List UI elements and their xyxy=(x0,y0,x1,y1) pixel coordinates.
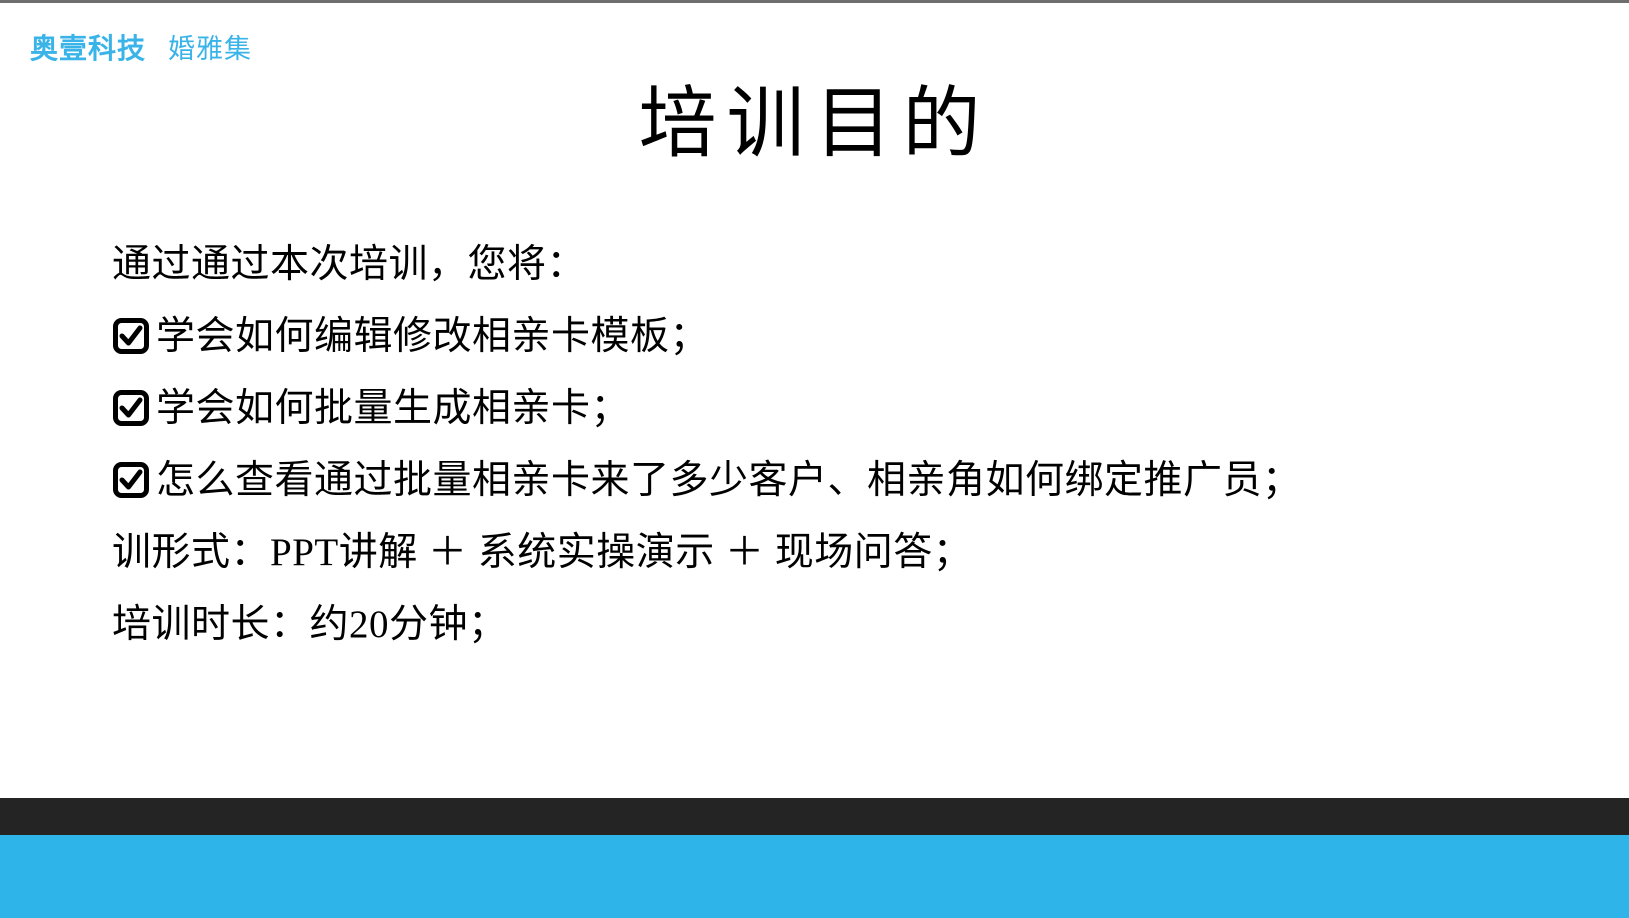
body-line-checklist: 学会如何批量生成相亲卡； xyxy=(112,387,1569,459)
page-title: 培训目的 xyxy=(0,81,1629,167)
slide-root: 奥壹科技 婚雅集 培训目的 通过通过本次培训，您将： 学会如何编辑修改相亲卡模板… xyxy=(0,0,1629,918)
footer-accent-bar xyxy=(0,835,1629,918)
body-line-checklist: 学会如何编辑修改相亲卡模板； xyxy=(112,315,1569,387)
body-line-checklist: 怎么查看通过批量相亲卡来了多少客户、相亲角如何绑定推广员； xyxy=(112,459,1569,531)
checkbox-checked-icon xyxy=(112,460,150,500)
brand-primary-name: 奥壹科技 xyxy=(30,35,146,63)
brand-logo: 奥壹科技 婚雅集 xyxy=(30,35,252,63)
footer-dark-bar xyxy=(0,798,1629,835)
body-line-text: 训形式：PPT讲解 ＋ 系统实操演示 ＋ 现场问答； xyxy=(112,531,972,572)
body-line-text: 培训时长：约20分钟； xyxy=(112,603,508,644)
body-line-text: 怎么查看通过批量相亲卡来了多少客户、相亲角如何绑定推广员； xyxy=(156,459,1302,500)
body-line: 通过通过本次培训，您将： xyxy=(112,243,1569,315)
body-content: 通过通过本次培训，您将： 学会如何编辑修改相亲卡模板； 学会如何批量生成相亲卡； xyxy=(112,243,1569,675)
body-line-text: 通过通过本次培训，您将： xyxy=(112,243,586,284)
body-line-text: 学会如何编辑修改相亲卡模板； xyxy=(156,315,709,356)
body-line: 训形式：PPT讲解 ＋ 系统实操演示 ＋ 现场问答； xyxy=(112,531,1569,603)
body-line: 培训时长：约20分钟； xyxy=(112,603,1569,675)
body-line-text: 学会如何批量生成相亲卡； xyxy=(156,387,630,428)
checkbox-checked-icon xyxy=(112,388,150,428)
checkbox-checked-icon xyxy=(112,316,150,356)
brand-secondary-name: 婚雅集 xyxy=(168,36,252,63)
